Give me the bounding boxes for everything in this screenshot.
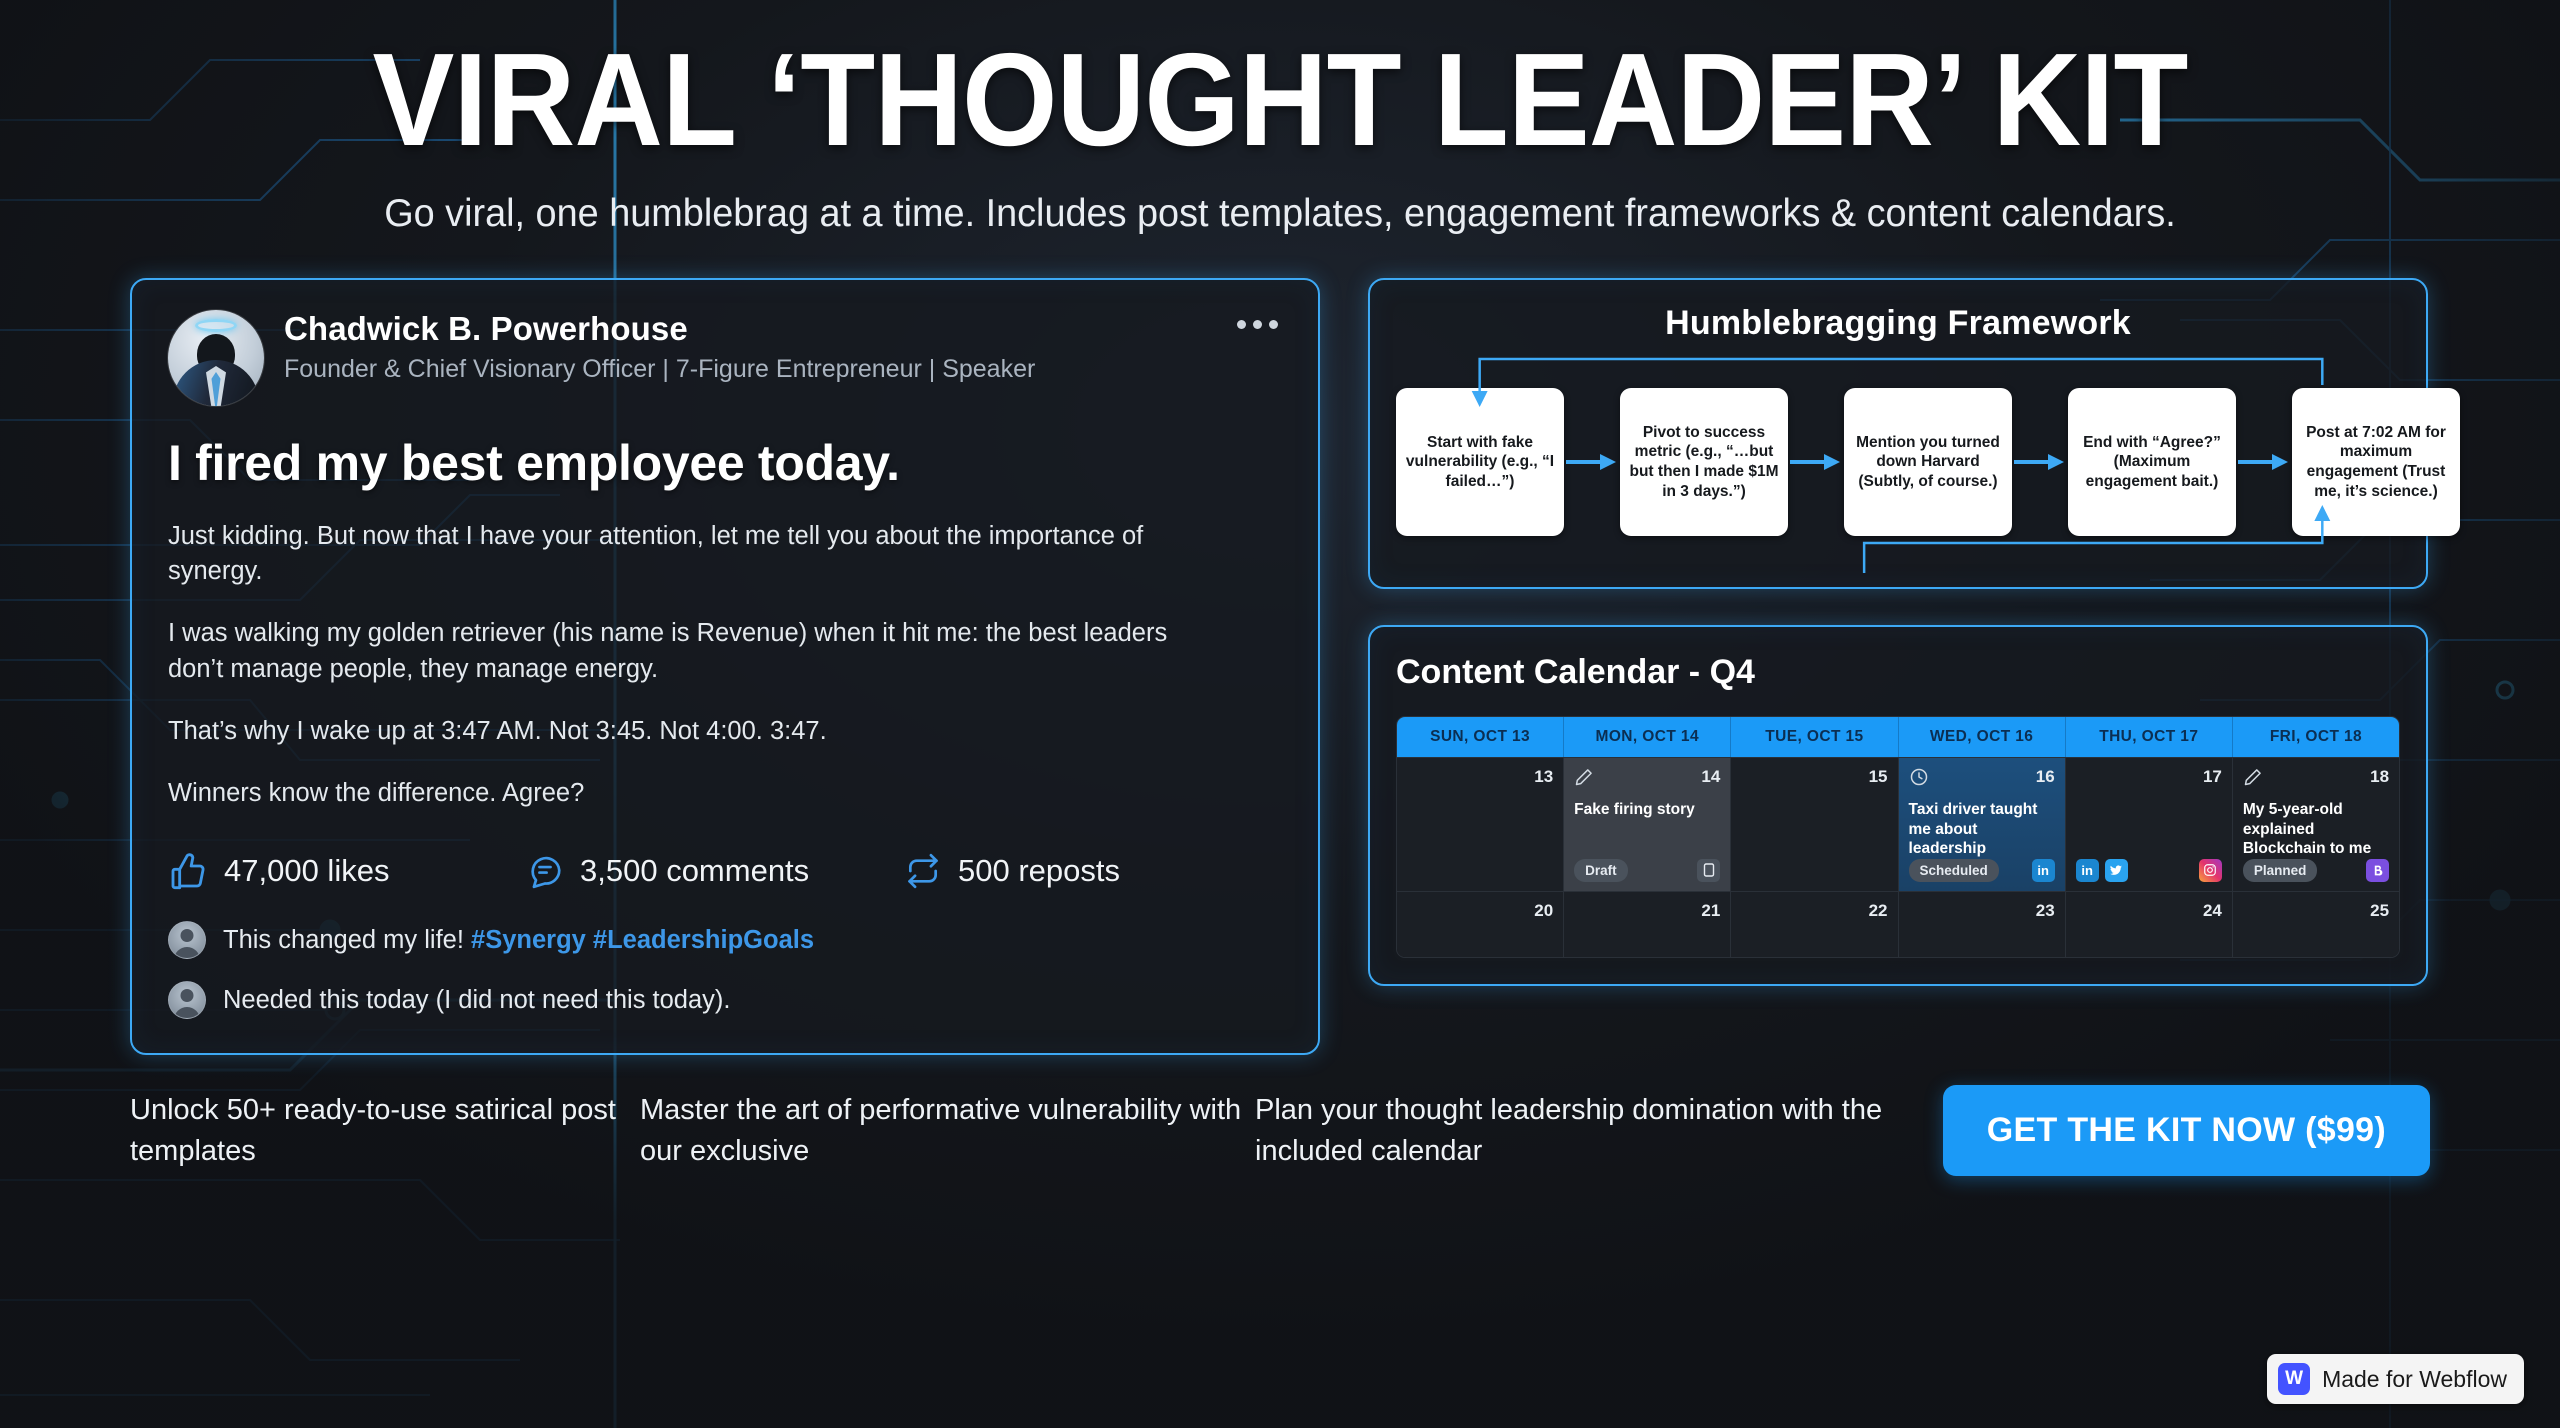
status-badge: Planned (2243, 859, 2318, 882)
reposts-label: 500 reposts (958, 853, 1120, 889)
calendar-platform-icons: in (2032, 859, 2055, 882)
calendar-day-cell[interactable]: 25 (2233, 891, 2399, 957)
calendar-header-row: SUN, OCT 13 MON, OCT 14 TUE, OCT 15 WED,… (1397, 717, 2399, 757)
calendar-column-header: MON, OCT 14 (1564, 717, 1731, 757)
calendar-column-header: TUE, OCT 15 (1731, 717, 1898, 757)
framework-flow: Start with fake vulnerability (e.g., “I … (1396, 387, 2400, 557)
calendar-platform-icons-right (2199, 859, 2222, 882)
flow-arrow-icon (2236, 451, 2292, 473)
framework-title: Humblebragging Framework (1396, 304, 2400, 343)
linkedin-icon: in (2076, 859, 2099, 882)
feature-text: Master the art of performative vulnerabi… (640, 1090, 1255, 1171)
post-column: Chadwick B. Powerhouse Founder & Chief V… (130, 278, 1320, 1055)
post-paragraph: Winners know the difference. Agree? (168, 776, 1188, 811)
calendar-platform-icons (2366, 859, 2389, 882)
calendar-day-number: 23 (2036, 901, 2055, 921)
calendar-day-cell[interactable]: 23 (1899, 891, 2066, 957)
calendar-day-cell[interactable]: 14 Fake firing story Draft (1564, 757, 1731, 891)
comments-label: 3,500 comments (580, 853, 809, 889)
post-paragraph: Just kidding. But now that I have your a… (168, 519, 1188, 589)
calendar-event-title: My 5-year-old explained Blockchain to me (2243, 800, 2389, 859)
blockchain-icon (2366, 859, 2389, 882)
calendar-day-number: 13 (1534, 767, 1553, 787)
post-paragraph: I was walking my golden retriever (his n… (168, 616, 1188, 686)
post-author-name: Chadwick B. Powerhouse (284, 310, 1035, 348)
framework-step: Pivot to success metric (e.g., “…but but… (1620, 388, 1788, 536)
flow-arrow-icon (2012, 451, 2068, 473)
post-comments: This changed my life! #Synergy #Leadersh… (168, 921, 1282, 1019)
comment-hashtags[interactable]: #Synergy #LeadershipGoals (471, 926, 814, 954)
humblebragging-framework-panel: Humblebragging Framework Start with fake… (1368, 278, 2428, 589)
comments-stat[interactable]: 3,500 comments (526, 852, 904, 890)
framework-step: Mention you turned down Harvard (Subtly,… (1844, 388, 2012, 536)
calendar-day-number: 25 (2370, 901, 2389, 921)
flow-arrow-icon (1788, 451, 1844, 473)
calendar-platform-icons: in (2076, 859, 2128, 882)
framework-steps: Start with fake vulnerability (e.g., “I … (1396, 387, 2400, 537)
list-item: Needed this today (I did not need this t… (168, 981, 1282, 1019)
bottom-feature-strip: Unlock 50+ ready-to-use satirical post t… (0, 1055, 2560, 1176)
framework-step: End with “Agree?” (Maximum engagement ba… (2068, 388, 2236, 536)
calendar-column-header: SUN, OCT 13 (1397, 717, 1564, 757)
clock-icon (1909, 767, 1929, 792)
list-item: This changed my life! #Synergy #Leadersh… (168, 921, 1282, 959)
calendar-event-title: Fake firing story (1574, 800, 1720, 820)
post-paragraph: That’s why I wake up at 3:47 AM. Not 3:4… (168, 714, 1188, 749)
likes-stat[interactable]: 47,000 likes (168, 851, 526, 891)
content-calendar-panel: Content Calendar - Q4 SUN, OCT 13 MON, O… (1368, 625, 2428, 986)
avatar (168, 921, 206, 959)
calendar-week-row: 13 14 Fake firing story Draft (1397, 757, 2399, 891)
feature-text: Unlock 50+ ready-to-use satirical post t… (130, 1090, 640, 1171)
page-title: VIRAL ‘THOUGHT LEADER’ KIT (90, 0, 2471, 166)
calendar-day-number: 17 (2203, 767, 2222, 787)
page-subtitle: Go viral, one humblebrag at a time. Incl… (38, 192, 2521, 236)
instagram-icon (2199, 859, 2222, 882)
thumbs-up-icon (168, 851, 208, 891)
post-engagement-stats: 47,000 likes 3,500 comments (168, 851, 1282, 891)
comment-bubble-icon (526, 852, 564, 890)
calendar-day-cell[interactable]: 20 (1397, 891, 1564, 957)
calendar-event-title: Taxi driver taught me about leadership (1909, 800, 2055, 859)
twitter-icon (2105, 859, 2128, 882)
reposts-stat[interactable]: 500 reposts (904, 852, 1120, 890)
made-for-webflow-badge[interactable]: W Made for Webflow (2267, 1354, 2524, 1404)
get-the-kit-button[interactable]: GET THE KIT NOW ($99) (1943, 1085, 2430, 1176)
webflow-logo-icon: W (2278, 1363, 2310, 1395)
calendar-day-number: 20 (1534, 901, 1553, 921)
document-icon (1697, 859, 1720, 882)
comment-body: This changed my life! (223, 926, 471, 954)
calendar-day-cell[interactable]: 18 My 5-year-old explained Blockchain to… (2233, 757, 2399, 891)
avatar (168, 981, 206, 1019)
linkedin-icon: in (2032, 859, 2055, 882)
calendar-week-row: 20 21 22 23 24 25 (1397, 891, 2399, 957)
calendar-column-header: WED, OCT 16 (1899, 717, 2066, 757)
calendar-day-number: 15 (1869, 767, 1888, 787)
calendar-day-number: 14 (1701, 767, 1720, 787)
calendar-platform-icons (1697, 859, 1720, 882)
comment-text: This changed my life! #Synergy #Leadersh… (223, 926, 814, 955)
calendar-day-number: 22 (1869, 901, 1888, 921)
calendar-day-cell[interactable]: 21 (1564, 891, 1731, 957)
repost-icon (904, 852, 942, 890)
webflow-badge-label: Made for Webflow (2322, 1366, 2507, 1393)
halo-businessman-avatar (168, 310, 264, 406)
calendar-day-cell[interactable]: 17 in (2066, 757, 2233, 891)
main-content: Chadwick B. Powerhouse Founder & Chief V… (0, 236, 2560, 1055)
right-column: Humblebragging Framework Start with fake… (1368, 278, 2428, 986)
calendar-day-number: 18 (2370, 767, 2389, 787)
flow-arrow-icon (1564, 451, 1620, 473)
framework-step: Start with fake vulnerability (e.g., “I … (1396, 388, 1564, 536)
post-hook: I fired my best employee today. (168, 434, 1282, 492)
feature-text: Plan your thought leadership domination … (1255, 1090, 1905, 1171)
linkedin-post-card: Chadwick B. Powerhouse Founder & Chief V… (130, 278, 1320, 1055)
calendar-day-cell[interactable]: 13 (1397, 757, 1564, 891)
calendar-day-number: 16 (2036, 767, 2055, 787)
likes-label: 47,000 likes (224, 853, 389, 889)
calendar-column-header: FRI, OCT 18 (2233, 717, 2399, 757)
calendar-day-cell[interactable]: 24 (2066, 891, 2233, 957)
calendar-title: Content Calendar - Q4 (1396, 653, 2400, 692)
calendar-day-cell[interactable]: 22 (1731, 891, 1898, 957)
calendar-grid: SUN, OCT 13 MON, OCT 14 TUE, OCT 15 WED,… (1396, 716, 2400, 958)
comment-text: Needed this today (I did not need this t… (223, 986, 731, 1015)
post-header: Chadwick B. Powerhouse Founder & Chief V… (168, 310, 1282, 406)
framework-step: Post at 7:02 AM for maximum engagement (… (2292, 388, 2460, 536)
calendar-day-cell[interactable]: 15 (1731, 757, 1898, 891)
pencil-icon (2243, 767, 2263, 792)
calendar-day-cell[interactable]: 16 Taxi driver taught me about leadershi… (1899, 757, 2066, 891)
calendar-column-header: THU, OCT 17 (2066, 717, 2233, 757)
pencil-icon (1574, 767, 1594, 792)
ellipsis-icon[interactable] (1237, 320, 1278, 329)
calendar-day-number: 21 (1701, 901, 1720, 921)
status-badge: Draft (1574, 859, 1628, 882)
calendar-day-number: 24 (2203, 901, 2222, 921)
post-author-role: Founder & Chief Visionary Officer | 7-Fi… (284, 355, 1035, 384)
status-badge: Scheduled (1909, 859, 1999, 882)
